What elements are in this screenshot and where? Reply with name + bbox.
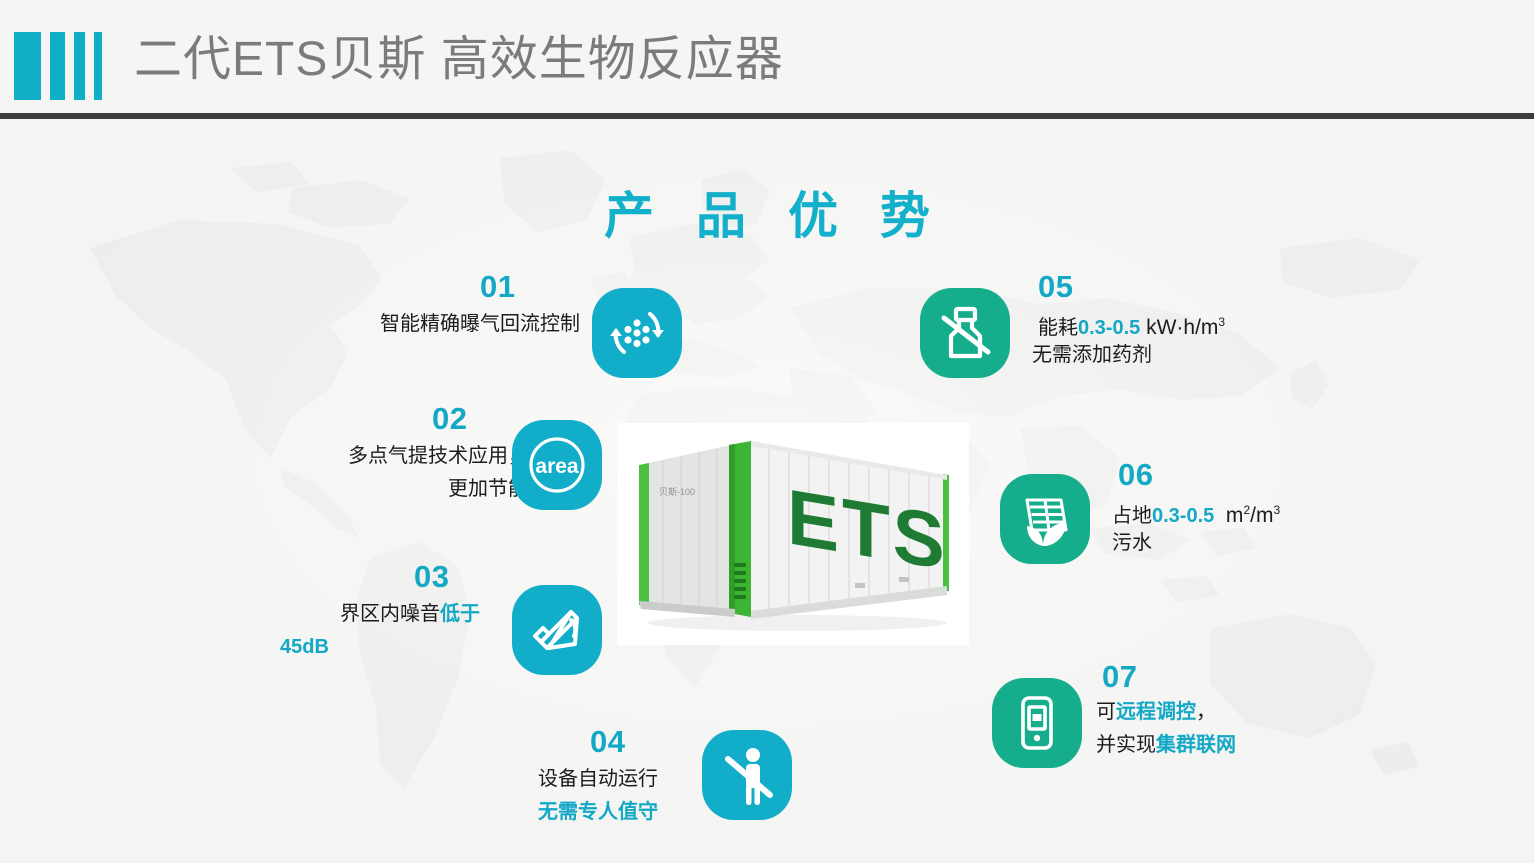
panel-label-text: 贝斯-100	[659, 486, 695, 497]
header-accent-bars	[14, 32, 111, 100]
accent-bar-2	[50, 32, 65, 100]
feature-item-04: 04 设备自动运行 无需专人值守	[480, 725, 810, 845]
feature-text-04-line2: 无需专人值守	[480, 796, 658, 829]
slide-root: 二代ETS贝斯 高效生物反应器 产 品 优 势 01 智能精确曝气回流控制	[0, 0, 1534, 863]
feature-item-05: 05 能耗0.3-0.5 kW·h/m3 无需添加药剂	[920, 270, 1340, 390]
feature-06-unit: m2/m3	[1214, 504, 1280, 527]
feature-03-highlight-1: 低于	[440, 603, 480, 625]
feature-text-05-line2: 无需添加药剂	[1032, 339, 1152, 372]
no-chemical-bottle-icon	[920, 288, 1010, 378]
feature-text-02-line2: 更加节能	[260, 473, 528, 506]
feature-text-03-line1: 界区内噪音低于	[280, 598, 480, 631]
feature-05-unit: kW·h/m3	[1140, 316, 1225, 339]
feature-number-03: 03	[414, 560, 449, 594]
feature-07-highlight-1: 远程调控	[1116, 701, 1196, 723]
feature-item-03: 03 界区内噪音低于 45dB	[280, 560, 670, 680]
feature-text-07-line1: 可远程调控，	[1096, 696, 1216, 729]
feature-number-01: 01	[480, 270, 515, 304]
header-title: 二代ETS贝斯 高效生物反应器	[134, 28, 784, 92]
page-title: 产 品 优 势	[0, 176, 1534, 248]
feature-number-04: 04	[590, 725, 625, 759]
feature-item-06: 06 占地0.3-0.5 m2/m3 污水	[1000, 458, 1400, 578]
feature-text-01: 智能精确曝气回流控制	[280, 308, 580, 341]
feature-number-06: 06	[1118, 458, 1153, 492]
ets-container-unit-photo: ETS 贝斯-100	[617, 423, 969, 645]
aeration-recirculation-icon	[592, 288, 682, 378]
feature-number-02: 02	[432, 402, 467, 436]
accent-bar-4	[94, 32, 102, 100]
feature-05-highlight: 0.3-0.5	[1078, 317, 1140, 339]
accent-bar-1	[14, 32, 41, 100]
no-attendant-icon	[702, 730, 792, 820]
feature-07-highlight-2: 集群联网	[1156, 734, 1236, 756]
feature-number-05: 05	[1038, 270, 1073, 304]
speaker-mute-icon	[512, 585, 602, 675]
header-divider-rule	[0, 113, 1534, 119]
feature-06-highlight: 0.3-0.5	[1152, 505, 1214, 527]
feature-text-02-line1: 多点气提技术应用，	[260, 440, 528, 473]
feature-item-01: 01 智能精确曝气回流控制	[280, 270, 700, 380]
slide-header: 二代ETS贝斯 高效生物反应器	[0, 0, 1534, 118]
svg-text:area: area	[535, 455, 579, 478]
feature-text-04-line1: 设备自动运行	[480, 763, 658, 796]
feature-text-06-line2: 污水	[1112, 527, 1152, 560]
mobile-phone-icon	[992, 678, 1082, 768]
feature-item-07: 07 可远程调控， 并实现集群联网	[992, 660, 1392, 780]
feature-item-02: 02 多点气提技术应用， 更加节能 area	[260, 402, 660, 522]
feature-text-07-line2: 并实现集群联网	[1096, 729, 1236, 762]
solar-panel-leaf-icon	[1000, 474, 1090, 564]
accent-bar-3	[74, 32, 85, 100]
feature-number-07: 07	[1102, 660, 1137, 694]
feature-04-highlight: 无需专人值守	[538, 801, 658, 823]
feature-text-03-line2: 45dB	[280, 631, 480, 664]
area-circle-icon: area	[512, 420, 602, 510]
feature-03-highlight-2: 45dB	[280, 636, 329, 658]
